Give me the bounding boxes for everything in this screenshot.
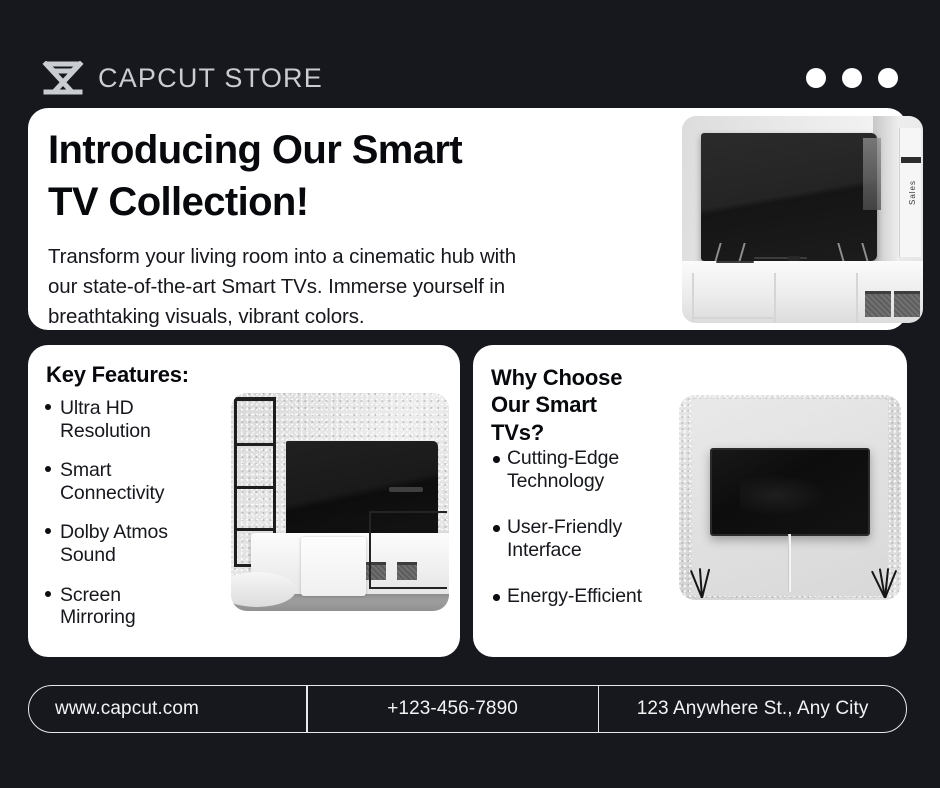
window-dots: [806, 68, 898, 88]
hero-card: Introducing Our Smart TV Collection! Tra…: [28, 108, 907, 330]
why-choose-tv-photo: [679, 395, 901, 600]
list-item: Smart Connectivity: [44, 459, 234, 504]
why-choose-list: Cutting-Edge Technology User-Friendly In…: [491, 447, 691, 608]
dot-1-icon[interactable]: [806, 68, 826, 88]
why-choose-heading: Why Choose Our Smart TVs?: [491, 364, 622, 446]
footer-phone[interactable]: +123-456-7890: [308, 686, 598, 732]
brand[interactable]: CAPCUT STORE: [42, 61, 323, 95]
list-item: Energy-Efficient: [491, 585, 691, 608]
hero-tv-photo: Sales: [682, 116, 923, 323]
hero-photo-label: Sales: [908, 180, 917, 205]
footer-address: 123 Anywhere St., Any City: [599, 686, 906, 732]
dot-2-icon[interactable]: [842, 68, 862, 88]
list-item: Ultra HD Resolution: [44, 397, 234, 442]
list-item: Cutting-Edge Technology: [491, 447, 691, 492]
footer-website[interactable]: www.capcut.com: [29, 686, 306, 732]
why-choose-card: Why Choose Our Smart TVs? Cutting-Edge T…: [473, 345, 907, 657]
poster-canvas: CAPCUT STORE Introducing Our Smart TV Co…: [0, 0, 940, 788]
list-item: User-Friendly Interface: [491, 516, 691, 561]
hero-title: Introducing Our Smart TV Collection!: [48, 124, 673, 228]
footer-contact-bar: www.capcut.com +123-456-7890 123 Anywher…: [28, 685, 907, 733]
list-item: Dolby Atmos Sound: [44, 521, 234, 566]
brand-name: CAPCUT STORE: [98, 63, 323, 94]
dot-3-icon[interactable]: [878, 68, 898, 88]
list-item: Screen Mirroring: [44, 584, 234, 629]
key-features-card: Key Features: Ultra HD Resolution Smart …: [28, 345, 460, 657]
capcut-logo-icon: [42, 61, 84, 95]
hero-text-block: Introducing Our Smart TV Collection! Tra…: [48, 124, 673, 332]
header: CAPCUT STORE: [42, 54, 898, 102]
key-features-list: Ultra HD Resolution Smart Connectivity D…: [44, 397, 234, 629]
key-features-heading: Key Features:: [46, 361, 189, 388]
key-features-tv-photo: [231, 393, 449, 611]
hero-body: Transform your living room into a cinema…: [48, 242, 673, 332]
